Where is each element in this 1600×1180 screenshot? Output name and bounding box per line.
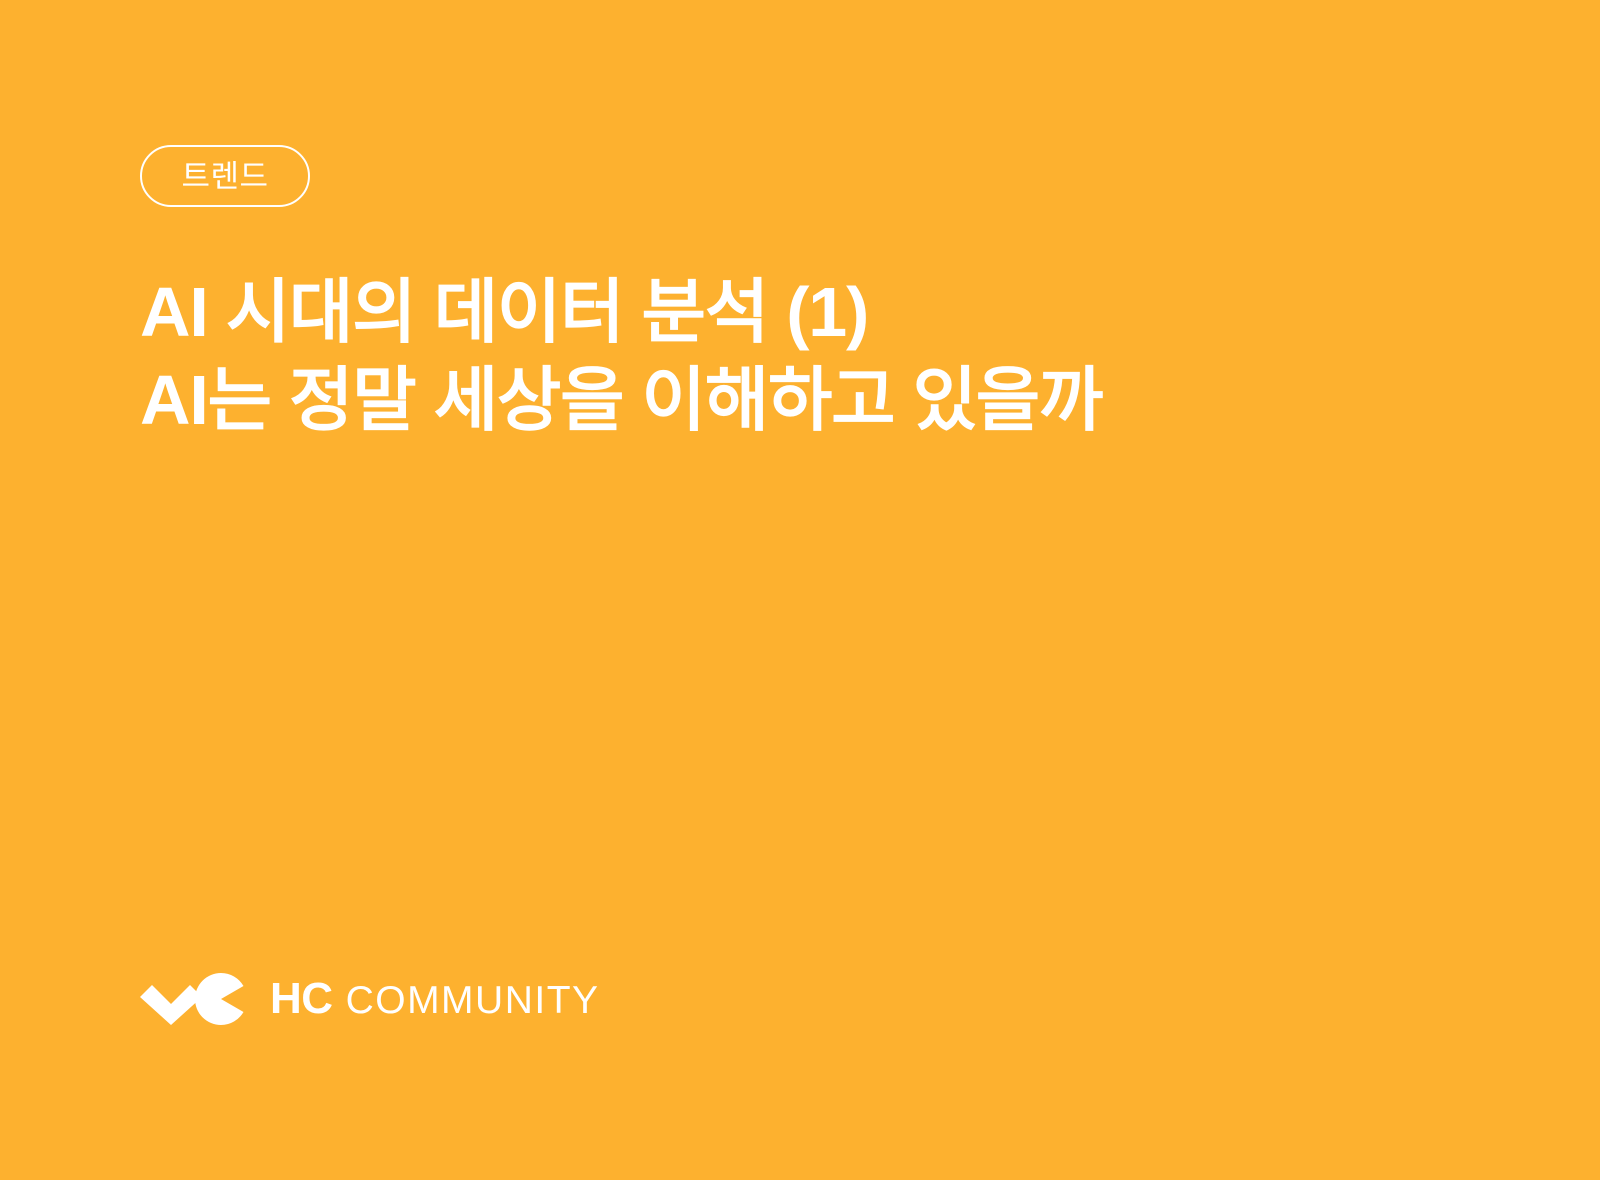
category-badge-label: 트렌드: [181, 161, 268, 192]
brand-wordmark: HC COMMUNITY: [270, 977, 600, 1021]
page-title-line-2: AI는 정말 세상을 이해하고 있을까: [140, 356, 1340, 444]
page-title: AI 시대의 데이터 분석 (1) AI는 정말 세상을 이해하고 있을까: [140, 268, 1340, 444]
brand-logo: HC COMMUNITY: [140, 973, 600, 1025]
page-title-line-1: AI 시대의 데이터 분석 (1): [140, 268, 1340, 356]
hc-community-logo-mark-icon: [140, 973, 248, 1025]
trend-card: 트렌드 AI 시대의 데이터 분석 (1) AI는 정말 세상을 이해하고 있을…: [0, 0, 1600, 1180]
category-badge[interactable]: 트렌드: [140, 145, 310, 207]
brand-name-bold: HC: [270, 977, 333, 1021]
brand-name-light: COMMUNITY: [346, 981, 600, 1020]
